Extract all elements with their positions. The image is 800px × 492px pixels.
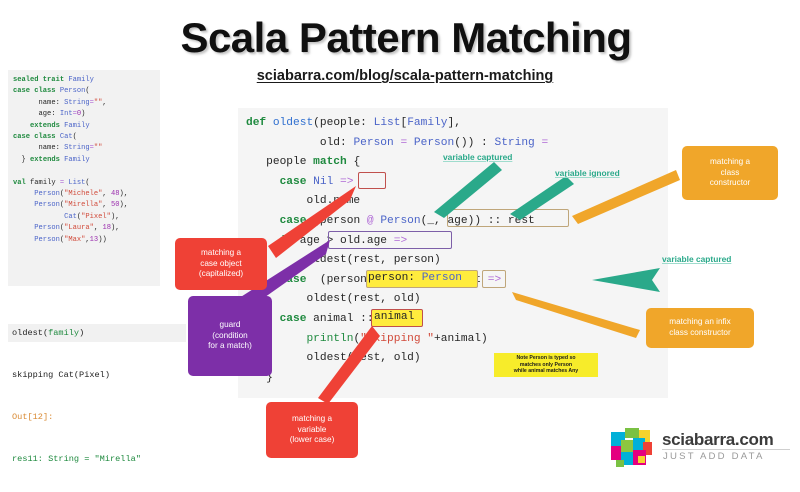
callout-variable-lowercase: matching avariable(lower case) bbox=[266, 402, 358, 458]
brand-name: sciabarra.com bbox=[662, 430, 773, 450]
callout-infix-constructor: matching an infixclass constructor bbox=[646, 308, 754, 348]
page-title: Scala Pattern Matching bbox=[96, 14, 716, 62]
definitions-code-panel: sealed trait Family case class Person( n… bbox=[8, 70, 160, 286]
repl-output-panel: oldest(family) skipping Cat(Pixel) Out[1… bbox=[8, 300, 186, 412]
label-variable-ignored: variable ignored bbox=[555, 168, 620, 178]
callout-case-object: matching acase object(capitalized) bbox=[175, 238, 267, 290]
callout-class-constructor: matching aclassconstructor bbox=[682, 146, 778, 200]
sticky-note: Note Person is typed somatches only Pers… bbox=[494, 353, 598, 377]
cube-icon bbox=[610, 426, 656, 470]
repl-result-line: res11: String = "Mirella" bbox=[8, 450, 186, 468]
highlight-typed-person-text: person: Person bbox=[368, 272, 462, 284]
highlight-nil bbox=[358, 172, 386, 189]
brand-divider bbox=[662, 449, 790, 450]
highlight-animal-text: animal bbox=[374, 311, 414, 323]
sticky-note-text: Note Person is typed somatches only Pers… bbox=[514, 355, 578, 374]
label-variable-captured-2: variable captured bbox=[662, 254, 731, 264]
callout-infix-constructor-label: matching an infixclass constructor bbox=[669, 317, 730, 338]
source-url[interactable]: sciabarra.com/blog/scala-pattern-matchin… bbox=[160, 68, 650, 84]
callout-class-constructor-label: matching aclassconstructor bbox=[710, 157, 751, 189]
repl-stdout-line: skipping Cat(Pixel) bbox=[8, 366, 186, 384]
callout-guard: guard(conditionfor a match) bbox=[188, 296, 272, 376]
brand-logo[interactable]: sciabarra.com JUST ADD DATA bbox=[610, 424, 792, 472]
callout-case-object-label: matching acase object(capitalized) bbox=[199, 248, 243, 280]
repl-input-line[interactable]: oldest(family) bbox=[8, 324, 186, 342]
label-variable-captured-1: variable captured bbox=[443, 152, 512, 162]
callout-variable-lowercase-label: matching avariable(lower case) bbox=[290, 414, 335, 446]
brand-tagline: JUST ADD DATA bbox=[663, 451, 765, 462]
infographic-canvas: Scala Pattern Matching sciabarra.com/blo… bbox=[0, 0, 800, 477]
callout-guard-label: guard(conditionfor a match) bbox=[208, 320, 252, 352]
highlight-cons-operator bbox=[482, 270, 506, 288]
highlight-guard bbox=[328, 231, 452, 249]
highlight-person-constructor bbox=[447, 209, 569, 227]
repl-out-label: Out[12]: bbox=[8, 408, 186, 426]
